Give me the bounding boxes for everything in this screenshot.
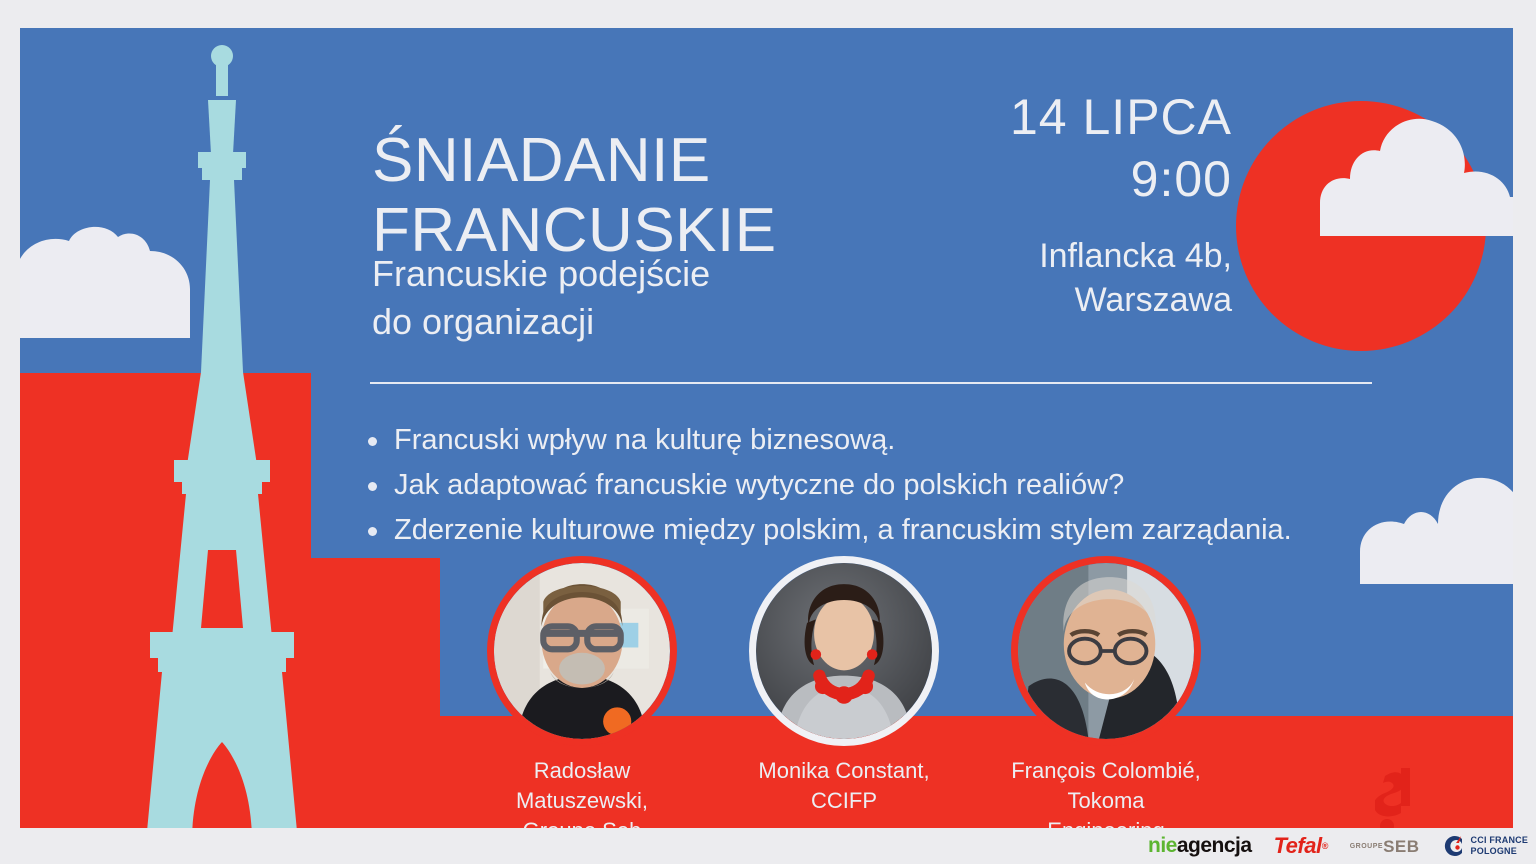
logo-cci-line2: POLOGNE bbox=[1471, 846, 1529, 857]
event-date: 14 LIPCA bbox=[1010, 86, 1232, 148]
speaker-photo-3 bbox=[1018, 563, 1194, 739]
bullet-dot-icon bbox=[368, 527, 377, 536]
avatar bbox=[487, 556, 677, 746]
groupe-seb-mark-icon bbox=[1375, 766, 1417, 834]
speaker-name: François Colombié, Tokoma Engineering bbox=[1006, 756, 1206, 828]
speaker-card: Monika Constant, CCIFP bbox=[744, 556, 944, 828]
event-venue: Inflancka 4b, Warszawa bbox=[1010, 234, 1232, 322]
logo-tefal-trademark: ® bbox=[1322, 841, 1328, 851]
list-item-label: Francuski wpływ na kulturę biznesową. bbox=[394, 424, 895, 456]
logo-nieagencja-green: nie bbox=[1148, 834, 1177, 858]
avatar bbox=[749, 556, 939, 746]
speaker-photo-2 bbox=[756, 563, 932, 739]
eiffel-tower-icon bbox=[112, 42, 332, 828]
list-item-label: Jak adaptować francuskie wytyczne do pol… bbox=[394, 469, 1124, 501]
event-details: 14 LIPCA 9:00 Inflancka 4b, Warszawa bbox=[1010, 86, 1232, 322]
logo-tefal: Tefal® bbox=[1274, 833, 1328, 859]
page-subtitle: Francuskie podejście do organizacji bbox=[372, 250, 710, 346]
list-item: Jak adaptować francuskie wytyczne do pol… bbox=[362, 463, 1482, 507]
cci-mark-icon bbox=[1442, 834, 1466, 858]
speaker-name: Radosław Matuszewski, Groupe Seb bbox=[482, 756, 682, 828]
bullet-dot-icon bbox=[368, 437, 377, 446]
divider bbox=[370, 382, 1372, 384]
list-item: Zderzenie kulturowe między polskim, a fr… bbox=[362, 508, 1482, 552]
speaker-list: Radosław Matuszewski, Groupe Seb bbox=[482, 556, 1332, 828]
poster-canvas: ŚNIADANIE FRANCUSKIE Francuskie podejści… bbox=[0, 0, 1536, 864]
speaker-card: François Colombié, Tokoma Engineering bbox=[1006, 556, 1206, 828]
bullet-dot-icon bbox=[368, 482, 377, 491]
logo-groupe-seb: GROUPE SEB bbox=[1350, 838, 1420, 855]
logo-cci-france-pologne: CCI FRANCE POLOGNE bbox=[1442, 834, 1529, 858]
list-item-label: Zderzenie kulturowe między polskim, a fr… bbox=[394, 514, 1292, 546]
logo-tefal-label: Tefal bbox=[1274, 833, 1322, 859]
agenda-list: Francuski wpływ na kulturę biznesową. Ja… bbox=[362, 418, 1482, 553]
poster-content: ŚNIADANIE FRANCUSKIE Francuskie podejści… bbox=[352, 28, 1513, 828]
logo-nieagencja: nieagencja bbox=[1148, 834, 1252, 858]
event-time: 9:00 bbox=[1010, 148, 1232, 210]
page-title: ŚNIADANIE FRANCUSKIE bbox=[372, 126, 777, 266]
logo-cci-text: CCI FRANCE POLOGNE bbox=[1471, 835, 1529, 857]
logo-cci-line1: CCI FRANCE bbox=[1471, 835, 1529, 846]
list-item: Francuski wpływ na kulturę biznesową. bbox=[362, 418, 1482, 462]
logo-nieagencja-black: agencja bbox=[1177, 834, 1252, 858]
speaker-name: Monika Constant, CCIFP bbox=[744, 756, 944, 816]
sponsor-logo-strip: nieagencja Tefal® GROUPE SEB CCI FRANCE … bbox=[1148, 828, 1536, 864]
logo-seb-groupe-label: GROUPE bbox=[1350, 843, 1383, 850]
poster-panel: ŚNIADANIE FRANCUSKIE Francuskie podejści… bbox=[20, 28, 1513, 828]
speaker-card: Radosław Matuszewski, Groupe Seb bbox=[482, 556, 682, 828]
avatar bbox=[1011, 556, 1201, 746]
logo-seb-label: SEB bbox=[1383, 838, 1419, 855]
speaker-photo-1 bbox=[494, 563, 670, 739]
